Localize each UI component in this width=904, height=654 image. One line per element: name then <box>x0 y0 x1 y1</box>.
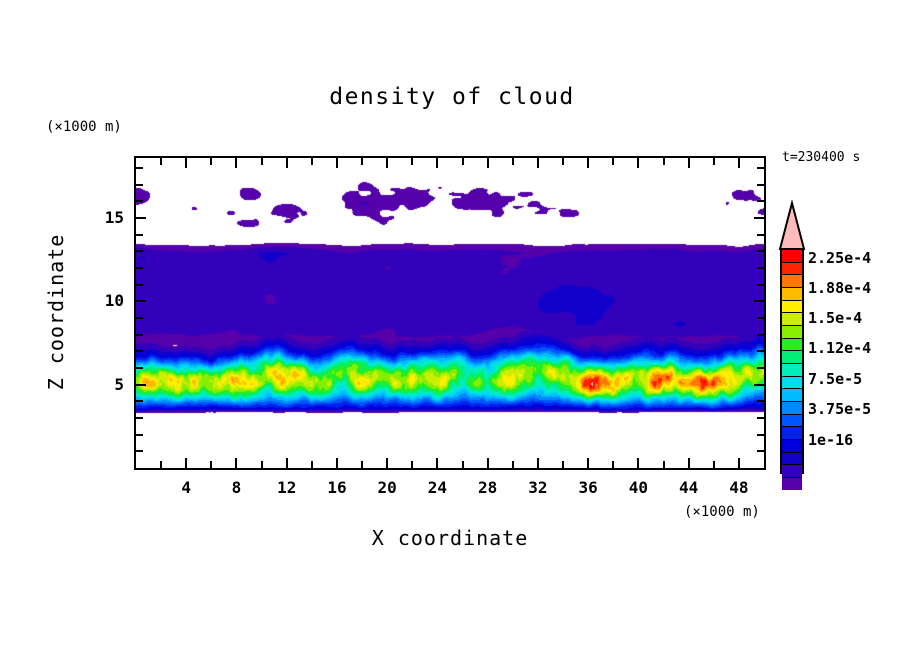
x-tick-mark <box>713 158 715 165</box>
x-tick-mark <box>235 158 237 168</box>
y-tick-mark <box>757 400 764 402</box>
x-tick-mark <box>637 458 639 468</box>
x-tick-label: 8 <box>216 478 256 497</box>
x-axis-unit-label: (×1000 m) <box>684 504 760 520</box>
y-axis-title: Z coordinate <box>44 212 68 412</box>
x-tick-mark <box>612 461 614 468</box>
y-tick-mark <box>136 417 143 419</box>
x-tick-mark <box>688 458 690 468</box>
x-tick-mark <box>386 458 388 468</box>
x-tick-mark <box>512 158 514 165</box>
y-tick-mark <box>757 284 764 286</box>
x-tick-label: 4 <box>166 478 206 497</box>
y-tick-mark <box>136 300 146 302</box>
x-tick-mark <box>537 158 539 168</box>
x-tick-mark <box>462 158 464 165</box>
y-tick-mark <box>136 334 143 336</box>
x-tick-label: 28 <box>468 478 508 497</box>
x-tick-mark <box>436 158 438 168</box>
colorbar-swatches <box>780 248 804 474</box>
x-tick-mark <box>411 158 413 165</box>
colorbar-swatch <box>782 401 802 414</box>
colorbar-swatch <box>782 262 802 275</box>
colorbar-tick-label: 7.5e-5 <box>808 370 862 388</box>
x-tick-mark <box>487 458 489 468</box>
y-tick-mark <box>757 167 764 169</box>
x-tick-label: 40 <box>618 478 658 497</box>
x-tick-mark <box>713 461 715 468</box>
timestamp-label: t=230400 s <box>782 150 860 165</box>
x-tick-mark <box>311 158 313 165</box>
y-tick-mark <box>757 317 764 319</box>
colorbar-swatch <box>782 452 802 465</box>
x-tick-mark <box>261 461 263 468</box>
x-tick-mark <box>411 461 413 468</box>
colorbar-tick-label: 1.5e-4 <box>808 309 862 327</box>
x-tick-mark <box>336 458 338 468</box>
y-tick-mark <box>136 434 143 436</box>
colorbar-swatch <box>782 338 802 351</box>
colorbar-tick-label: 1.88e-4 <box>808 279 871 297</box>
x-tick-mark <box>361 158 363 165</box>
x-tick-mark <box>587 158 589 168</box>
y-tick-mark <box>757 200 764 202</box>
y-tick-mark <box>757 417 764 419</box>
colorbar-swatch <box>782 477 802 490</box>
y-tick-mark <box>136 450 143 452</box>
x-tick-mark <box>210 158 212 165</box>
colorbar-swatch <box>782 350 802 363</box>
x-tick-mark <box>311 461 313 468</box>
x-tick-label: 36 <box>568 478 608 497</box>
y-tick-mark <box>136 167 143 169</box>
y-tick-mark <box>136 384 146 386</box>
colorbar-swatch <box>782 388 802 401</box>
x-tick-mark <box>235 458 237 468</box>
x-tick-mark <box>663 158 665 165</box>
y-tick-label: 5 <box>84 375 124 394</box>
x-tick-mark <box>487 158 489 168</box>
y-tick-mark <box>757 267 764 269</box>
y-tick-mark <box>136 400 143 402</box>
colorbar-tick-label: 2.25e-4 <box>808 249 871 267</box>
y-tick-mark <box>754 217 764 219</box>
x-tick-mark <box>738 158 740 168</box>
x-tick-label: 32 <box>518 478 558 497</box>
x-tick-mark <box>436 458 438 468</box>
y-tick-mark <box>136 200 143 202</box>
x-tick-label: 16 <box>317 478 357 497</box>
y-tick-mark <box>136 217 146 219</box>
x-tick-label: 12 <box>267 478 307 497</box>
contour-plot-figure: density of cloud (×1000 m) (×1000 m) Z c… <box>0 0 904 654</box>
y-tick-mark <box>757 367 764 369</box>
y-tick-mark <box>754 384 764 386</box>
z-axis-unit-label: (×1000 m) <box>46 119 122 135</box>
colorbar-tick-label: 3.75e-5 <box>808 400 871 418</box>
y-tick-mark <box>136 284 143 286</box>
y-tick-mark <box>136 350 143 352</box>
x-tick-mark <box>286 458 288 468</box>
y-tick-mark <box>757 334 764 336</box>
colorbar-swatch <box>782 312 802 325</box>
colorbar-swatch <box>782 274 802 287</box>
x-tick-label: 24 <box>417 478 457 497</box>
x-tick-mark <box>210 461 212 468</box>
page-title: density of cloud <box>0 84 904 110</box>
colorbar-swatch <box>782 287 802 300</box>
contour-field-canvas <box>136 158 764 468</box>
colorbar-tick-label: 1e-16 <box>808 431 853 449</box>
colorbar-extend-arrow-icon <box>777 200 807 250</box>
colorbar <box>777 200 807 476</box>
colorbar-swatch <box>782 439 802 452</box>
y-tick-mark <box>136 250 143 252</box>
x-tick-mark <box>386 158 388 168</box>
x-tick-label: 20 <box>367 478 407 497</box>
x-tick-mark <box>160 158 162 165</box>
y-tick-label: 10 <box>84 291 124 310</box>
x-tick-mark <box>537 458 539 468</box>
x-tick-mark <box>562 158 564 165</box>
x-tick-mark <box>738 458 740 468</box>
x-tick-mark <box>185 458 187 468</box>
x-tick-mark <box>160 461 162 468</box>
x-axis-title: X coordinate <box>134 526 766 550</box>
colorbar-swatch <box>782 250 802 262</box>
y-tick-mark <box>757 184 764 186</box>
x-tick-mark <box>185 158 187 168</box>
x-tick-mark <box>663 461 665 468</box>
colorbar-swatch <box>782 300 802 313</box>
x-tick-mark <box>688 158 690 168</box>
x-tick-mark <box>637 158 639 168</box>
colorbar-swatch <box>782 464 802 477</box>
x-tick-mark <box>612 158 614 165</box>
colorbar-swatch <box>782 325 802 338</box>
colorbar-swatch <box>782 426 802 439</box>
y-tick-mark <box>136 367 143 369</box>
y-tick-mark <box>757 350 764 352</box>
x-tick-mark <box>361 461 363 468</box>
plot-frame <box>134 156 766 470</box>
y-tick-label: 15 <box>84 208 124 227</box>
x-tick-mark <box>512 461 514 468</box>
y-tick-mark <box>136 184 143 186</box>
x-tick-mark <box>286 158 288 168</box>
y-tick-mark <box>136 234 143 236</box>
y-tick-mark <box>757 450 764 452</box>
colorbar-swatch <box>782 376 802 389</box>
x-tick-label: 48 <box>719 478 759 497</box>
y-tick-mark <box>757 434 764 436</box>
colorbar-swatch <box>782 414 802 427</box>
y-tick-mark <box>754 300 764 302</box>
y-tick-mark <box>757 250 764 252</box>
x-tick-mark <box>336 158 338 168</box>
x-tick-label: 44 <box>669 478 709 497</box>
y-tick-mark <box>757 234 764 236</box>
x-tick-mark <box>261 158 263 165</box>
y-tick-mark <box>136 317 143 319</box>
x-tick-mark <box>562 461 564 468</box>
x-tick-mark <box>462 461 464 468</box>
colorbar-tick-label: 1.12e-4 <box>808 339 871 357</box>
y-tick-mark <box>136 267 143 269</box>
x-tick-mark <box>587 458 589 468</box>
colorbar-swatch <box>782 363 802 376</box>
